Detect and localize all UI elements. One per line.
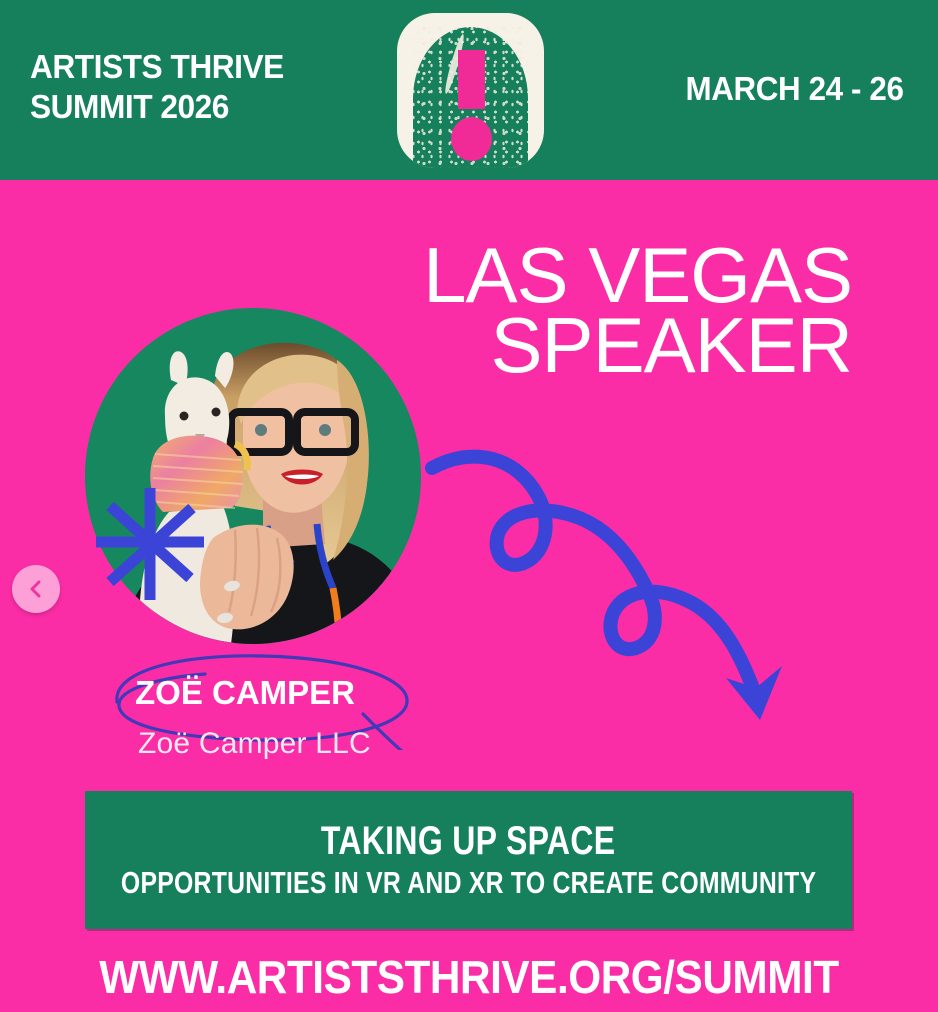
speaker-name: ZOË CAMPER [135,674,355,712]
speaker-organization: Zoë Camper LLC [138,727,371,761]
logo-exclamation-bar-icon [458,50,485,109]
chevron-left-icon [26,579,46,599]
logo-exclamation-dot-icon [451,117,492,161]
summit-dates: MARCH 24 - 26 [686,70,904,108]
blue-sparkle-star-icon [88,482,212,606]
artists-thrive-exclamation-logo [397,13,544,168]
talk-title: TAKING UP SPACE [321,819,616,863]
talk-banner: TAKING UP SPACE OPPORTUNITIES IN VR AND … [85,791,852,929]
carousel-prev-button[interactable] [12,565,60,613]
talk-subtitle: OPPORTUNITIES IN VR AND XR TO CREATE COM… [121,865,816,901]
speaker-name-block: ZOË CAMPER Zoë Camper LLC [95,650,485,780]
summit-title: ARTISTS THRIVE SUMMIT 2026 [30,47,284,127]
summit-website-url[interactable]: WWW.ARTISTSTHRIVE.ORG/SUMMIT [38,950,901,1004]
poster-body: LAS VEGAS SPEAKER [0,180,938,1012]
artists-thrive-speaker-poster: ARTISTS THRIVE SUMMIT 2026 MARCH 24 - 26… [0,0,938,1012]
